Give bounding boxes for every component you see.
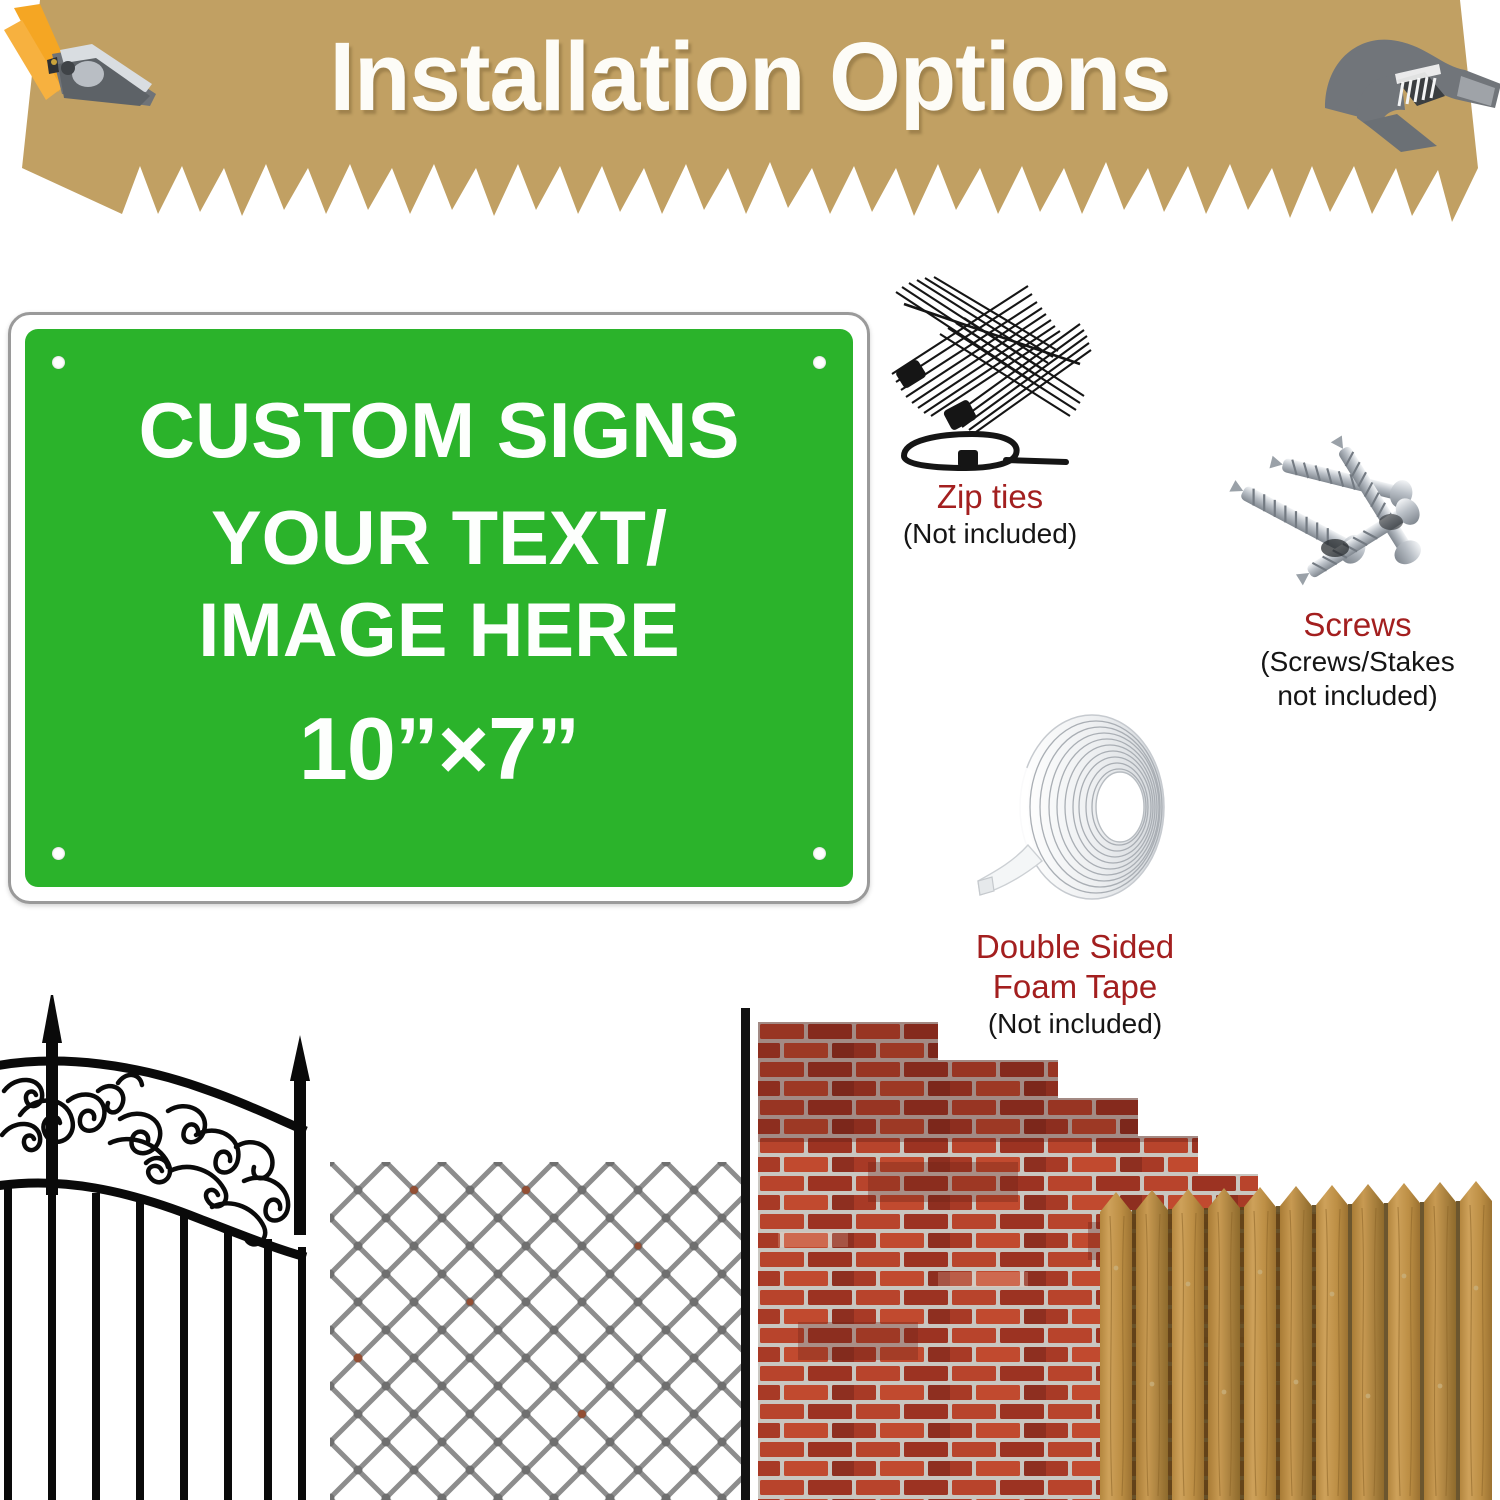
sign-text-block: CUSTOM SIGNS YOUR TEXT/ IMAGE HERE 10”×7… <box>25 385 853 799</box>
sign-plate: CUSTOM SIGNS YOUR TEXT/ IMAGE HERE 10”×7… <box>8 312 870 904</box>
scene-divider <box>741 1008 750 1500</box>
header-banner: Installation Options <box>0 0 1500 222</box>
mounting-hole-top-left <box>52 356 65 369</box>
mounting-hole-top-right <box>813 356 826 369</box>
screws-note-line-1: (Screws/Stakes <box>1215 645 1500 679</box>
screws-label: Screws <box>1215 605 1500 645</box>
sign-face: CUSTOM SIGNS YOUR TEXT/ IMAGE HERE 10”×7… <box>25 329 853 887</box>
screws-note-line-2: not included) <box>1215 679 1500 713</box>
page-title: Installation Options <box>38 22 1463 132</box>
wrought-iron-gate-image <box>0 995 360 1500</box>
custom-sign-preview: CUSTOM SIGNS YOUR TEXT/ IMAGE HERE 10”×7… <box>8 312 870 904</box>
mounting-hole-bottom-right <box>813 847 826 860</box>
sign-subheading-line-1: YOUR TEXT/ <box>25 493 853 585</box>
sign-heading: CUSTOM SIGNS <box>25 385 853 475</box>
zip-ties-icon <box>880 268 1100 473</box>
accessory-screws: Screws (Screws/Stakes not included) <box>1215 430 1500 713</box>
accessory-foam-tape: Double Sided Foam Tape (Not included) <box>950 695 1200 1041</box>
screws-icon <box>1215 430 1500 605</box>
sign-subheading-line-2: IMAGE HERE <box>25 585 853 677</box>
wood-picket-fence-image <box>1098 1176 1500 1500</box>
accessory-zip-ties: Zip ties (Not included) <box>880 268 1100 551</box>
tape-roll-icon <box>950 695 1200 927</box>
mounting-hole-bottom-left <box>52 847 65 860</box>
zip-ties-note: (Not included) <box>880 517 1100 551</box>
zip-ties-label: Zip ties <box>880 477 1100 517</box>
chain-link-fence-image <box>330 1162 742 1500</box>
foam-tape-label-line-1: Double Sided <box>950 927 1200 967</box>
foam-tape-label-line-2: Foam Tape <box>950 967 1200 1007</box>
sign-size-label: 10”×7” <box>25 699 853 799</box>
